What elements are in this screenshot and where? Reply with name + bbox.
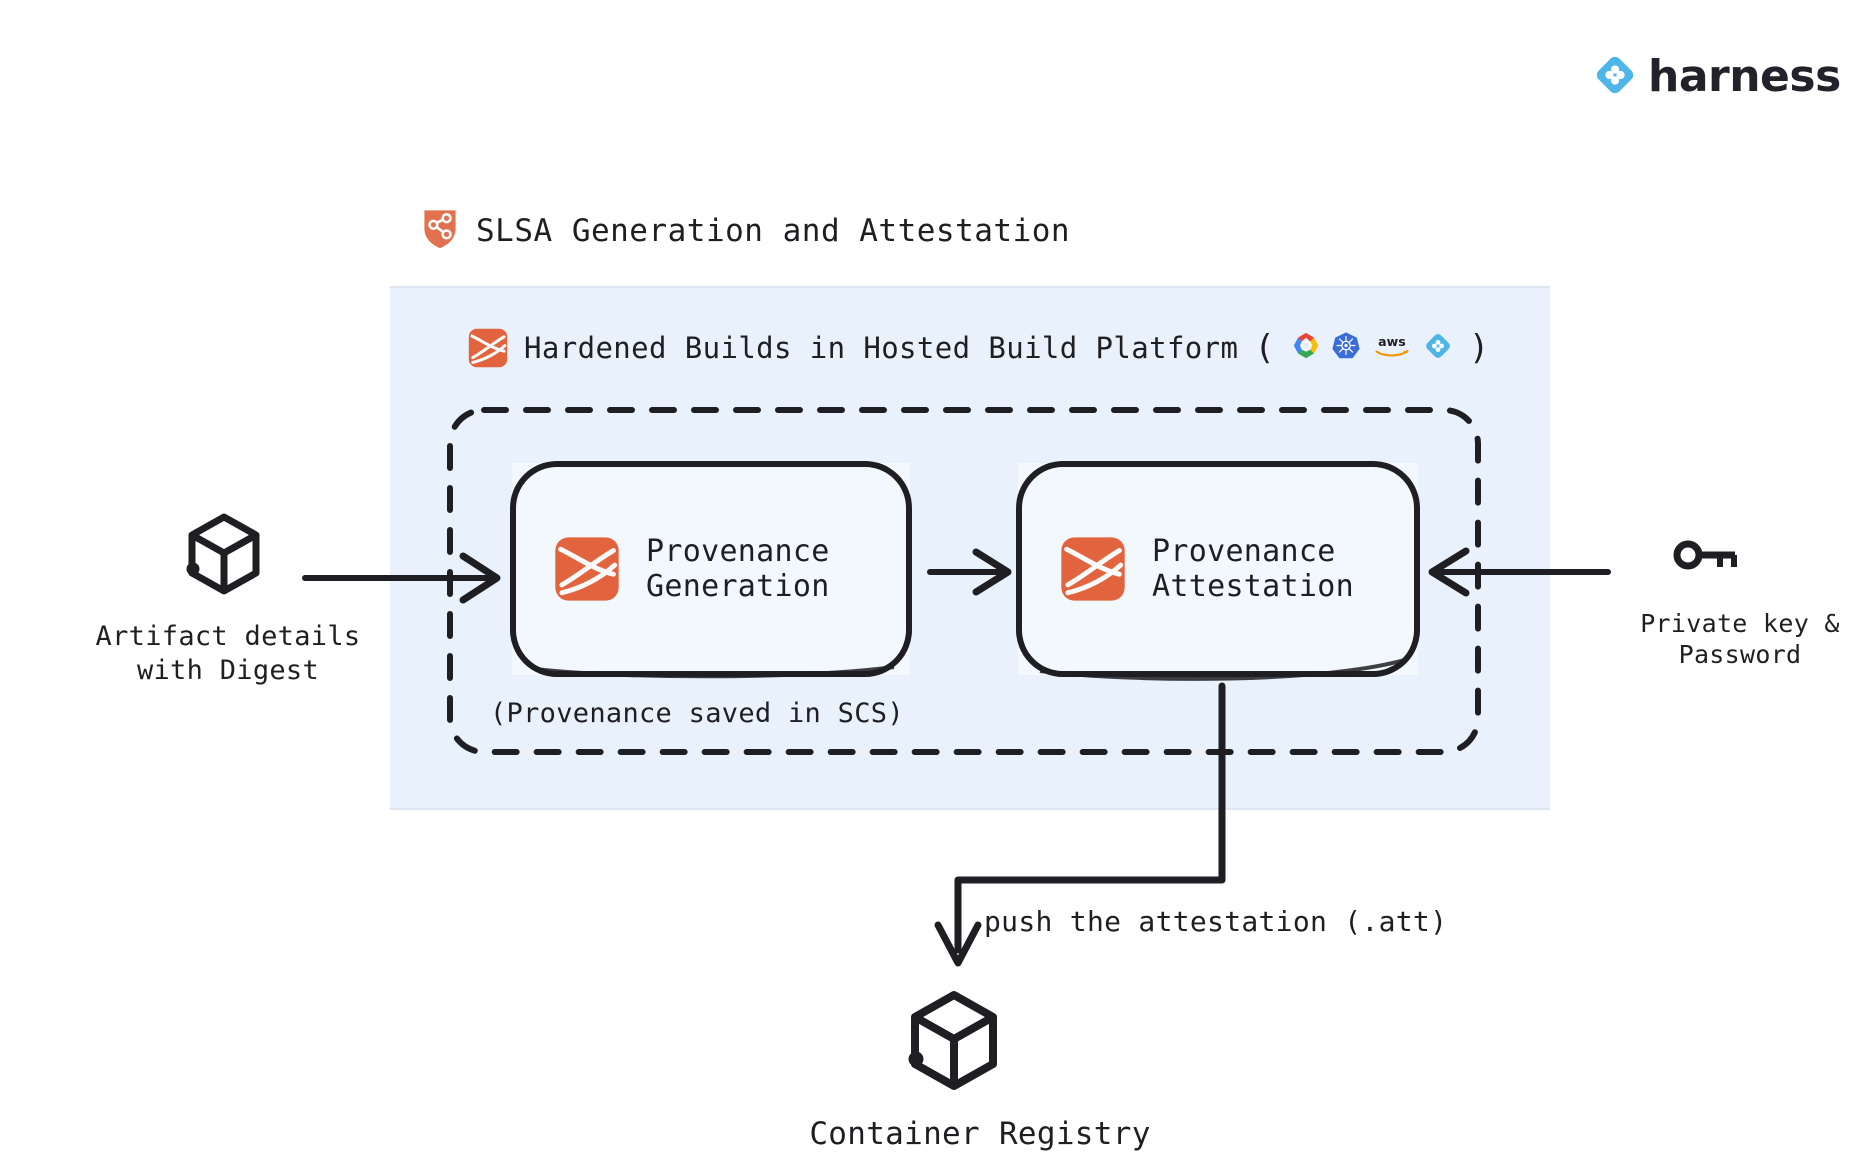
harness-logo: harness <box>1592 52 1841 102</box>
scs-note: (Provenance saved in SCS) <box>490 697 904 731</box>
paren-open: ( <box>1254 331 1274 365</box>
panel-heading: Hardened Builds in Hosted Build Platform… <box>468 328 1489 368</box>
section-title-text: SLSA Generation and Attestation <box>476 213 1070 249</box>
provenance-generation-label: Provenance Generation <box>646 534 830 605</box>
push-attestation-note: push the attestation (.att) <box>984 905 1447 938</box>
paren-close: ) <box>1469 331 1489 365</box>
svg-text:aws: aws <box>1378 334 1406 349</box>
platform-icon-list: aws <box>1291 331 1453 365</box>
harness-diamond-icon <box>1423 331 1453 365</box>
key-icon <box>1672 538 1740 582</box>
harness-diamond-icon <box>1592 52 1638 102</box>
kubernetes-icon <box>1331 331 1361 365</box>
panel-heading-text: Hardened Builds in Hosted Build Platform <box>524 331 1238 365</box>
slsa-shield-icon <box>422 208 458 254</box>
cube-icon <box>908 990 1000 1096</box>
google-cloud-icon <box>1291 331 1321 365</box>
artifact-caption: Artifact details with Digest <box>78 620 378 688</box>
cube-icon <box>186 512 262 600</box>
provenance-attestation-box[interactable]: Provenance Attestation <box>1018 463 1418 675</box>
registry-caption: Container Registry <box>780 1115 1180 1154</box>
harness-ci-icon <box>1060 536 1126 602</box>
section-title: SLSA Generation and Attestation <box>422 208 1070 254</box>
provenance-generation-box[interactable]: Provenance Generation <box>512 463 910 675</box>
aws-icon: aws <box>1371 331 1413 365</box>
harness-wordmark: harness <box>1648 55 1841 99</box>
key-caption: Private key & Password <box>1620 608 1860 671</box>
harness-ci-icon <box>554 536 620 602</box>
harness-ci-icon <box>468 328 508 368</box>
provenance-attestation-label: Provenance Attestation <box>1152 534 1354 605</box>
